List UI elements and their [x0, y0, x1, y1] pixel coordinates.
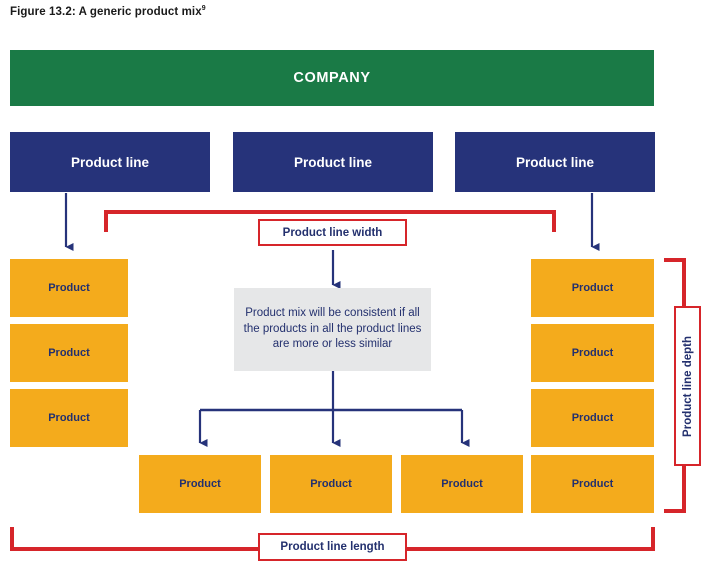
- product-line-label-3: Product line: [516, 155, 594, 170]
- product-line-depth-label-text: Product line depth: [682, 336, 694, 437]
- product-line-box-2: Product line: [233, 132, 433, 192]
- product-box-bottom-1: Product: [139, 455, 261, 513]
- product-label-right-2: Product: [572, 347, 614, 359]
- product-mix-note-text: Product mix will be consistent if all th…: [240, 306, 425, 353]
- product-line-width-label: Product line width: [258, 219, 407, 246]
- product-box-bottom-2: Product: [270, 455, 392, 513]
- product-line-length-label-text: Product line length: [280, 541, 384, 553]
- product-box-left-1: Product: [10, 259, 128, 317]
- figure-canvas: Figure 13.2: A generic product mix9 COMP…: [0, 0, 720, 577]
- product-label-bottom-1: Product: [179, 478, 221, 490]
- product-line-depth-label: Product line depth: [674, 306, 701, 466]
- company-box: COMPANY: [10, 50, 654, 106]
- product-label-bottom-2: Product: [310, 478, 352, 490]
- product-label-left-1: Product: [48, 282, 90, 294]
- product-line-width-label-text: Product line width: [283, 227, 383, 239]
- company-label: COMPANY: [293, 70, 370, 86]
- product-box-left-3: Product: [10, 389, 128, 447]
- product-label-left-2: Product: [48, 347, 90, 359]
- product-label-right-3: Product: [572, 412, 614, 424]
- product-label-left-3: Product: [48, 412, 90, 424]
- product-line-box-3: Product line: [455, 132, 655, 192]
- product-box-bottom-4: Product: [531, 455, 654, 513]
- product-line-length-label: Product line length: [258, 533, 407, 561]
- product-line-label-1: Product line: [71, 155, 149, 170]
- product-box-right-2: Product: [531, 324, 654, 382]
- product-mix-note: Product mix will be consistent if all th…: [234, 288, 431, 371]
- product-label-bottom-3: Product: [441, 478, 483, 490]
- product-box-bottom-3: Product: [401, 455, 523, 513]
- product-box-right-1: Product: [531, 259, 654, 317]
- product-label-bottom-4: Product: [572, 478, 614, 490]
- product-box-right-3: Product: [531, 389, 654, 447]
- product-line-box-1: Product line: [10, 132, 210, 192]
- product-label-right-1: Product: [572, 282, 614, 294]
- product-line-label-2: Product line: [294, 155, 372, 170]
- product-box-left-2: Product: [10, 324, 128, 382]
